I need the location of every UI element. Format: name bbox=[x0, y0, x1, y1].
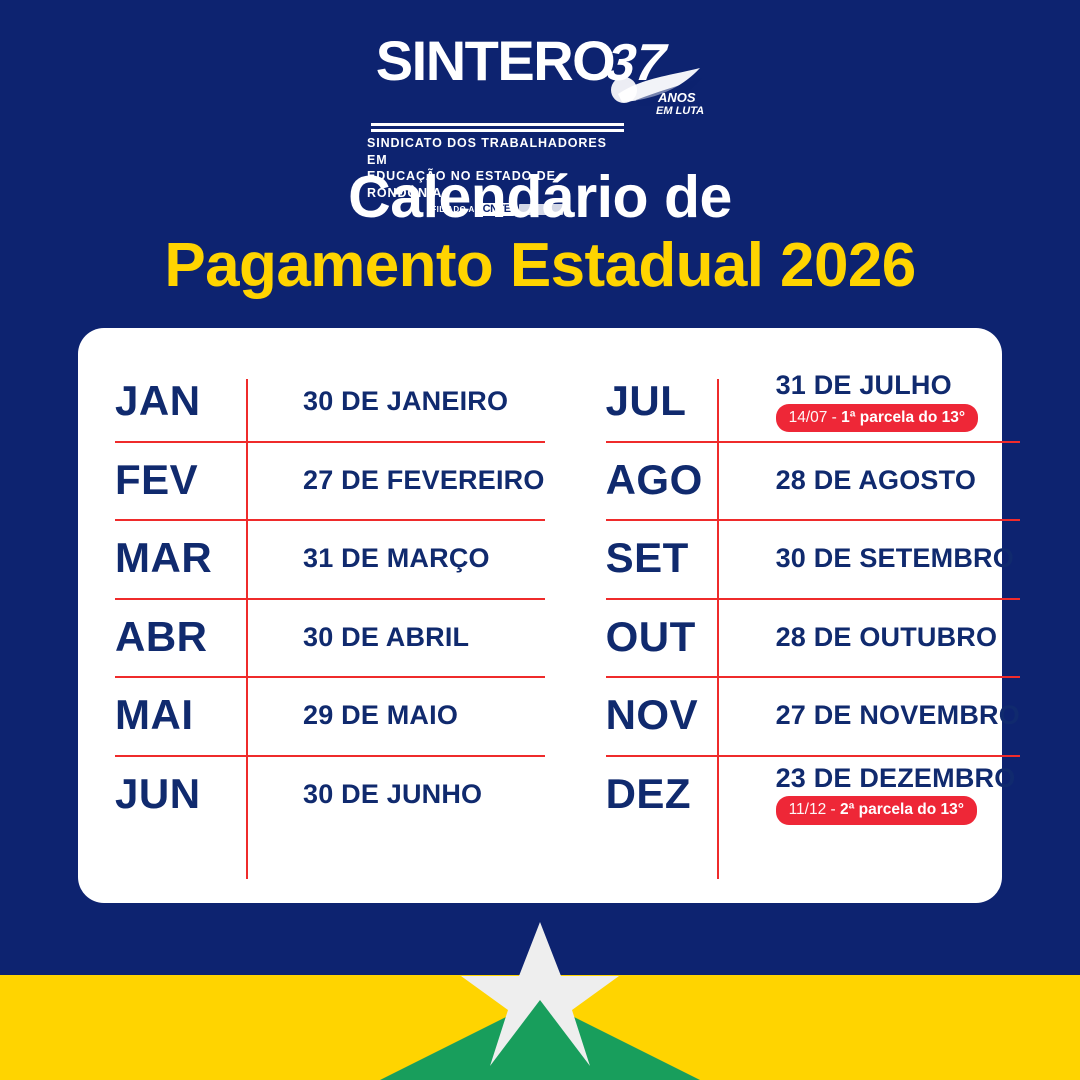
month-abbr-jan: JAN bbox=[115, 380, 283, 422]
month-detail-mar: 31 DE MARÇO bbox=[283, 543, 545, 573]
calendar-card: JAN 30 DE JANEIRO FEV 27 DE FEVEREIRO MA… bbox=[78, 328, 1002, 903]
month-detail-out: 28 DE OUTUBRO bbox=[756, 622, 1020, 652]
month-detail-jul: 31 DE JULHO 14/07 - 1ª parcela do 13° bbox=[756, 370, 1020, 432]
month-date-dez: 23 DE DEZEMBRO bbox=[776, 763, 1020, 793]
month-abbr-abr: ABR bbox=[115, 616, 283, 658]
month-date-ago: 28 DE AGOSTO bbox=[776, 465, 1020, 495]
month-date-abr: 30 DE ABRIL bbox=[303, 622, 545, 652]
month-abbr-dez: DEZ bbox=[606, 773, 756, 815]
calendar-row-mar: MAR 31 DE MARÇO bbox=[115, 519, 545, 598]
logo-primary-row: SINTERO 37 ANOS EM LUTA bbox=[376, 34, 704, 120]
month-abbr-fev: FEV bbox=[115, 459, 283, 501]
month-abbr-set: SET bbox=[606, 537, 756, 579]
flag-footer bbox=[0, 900, 1080, 1080]
month-date-out: 28 DE OUTUBRO bbox=[776, 622, 1020, 652]
title-line-1: Calendário de bbox=[0, 166, 1080, 230]
calendar-row-out: OUT 28 DE OUTUBRO bbox=[606, 598, 1020, 677]
month-date-mai: 29 DE MAIO bbox=[303, 700, 545, 730]
month-abbr-mai: MAI bbox=[115, 694, 283, 736]
calendar-row-dez: DEZ 23 DE DEZEMBRO 11/12 - 2ª parcela do… bbox=[606, 755, 1020, 834]
month-detail-set: 30 DE SETEMBRO bbox=[756, 543, 1020, 573]
month-detail-jun: 30 DE JUNHO bbox=[283, 779, 545, 809]
anniversary-37-icon: 37 ANOS EM LUTA bbox=[608, 34, 704, 120]
logo-rule-top bbox=[371, 123, 624, 126]
calendar-row-jul: JUL 31 DE JULHO 14/07 - 1ª parcela do 13… bbox=[606, 362, 1020, 441]
month-abbr-ago: AGO bbox=[606, 459, 756, 501]
calendar-row-abr: ABR 30 DE ABRIL bbox=[115, 598, 545, 677]
badge-date-dez: 11/12 - bbox=[789, 801, 840, 818]
month-date-fev: 27 DE FEVEREIRO bbox=[303, 465, 545, 495]
month-date-jan: 30 DE JANEIRO bbox=[303, 386, 545, 416]
month-detail-dez: 23 DE DEZEMBRO 11/12 - 2ª parcela do 13° bbox=[756, 763, 1020, 825]
month-abbr-mar: MAR bbox=[115, 537, 283, 579]
logo-rule-bottom bbox=[371, 129, 624, 132]
calendar-row-mai: MAI 29 DE MAIO bbox=[115, 676, 545, 755]
month-detail-mai: 29 DE MAIO bbox=[283, 700, 545, 730]
month-detail-ago: 28 DE AGOSTO bbox=[756, 465, 1020, 495]
month-abbr-nov: NOV bbox=[606, 694, 756, 736]
calendar-row-jan: JAN 30 DE JANEIRO bbox=[115, 362, 545, 441]
calendar-column-second-half: JUL 31 DE JULHO 14/07 - 1ª parcela do 13… bbox=[567, 362, 1044, 903]
installment-badge-dez: 11/12 - 2ª parcela do 13° bbox=[776, 796, 977, 825]
calendar-row-set: SET 30 DE SETEMBRO bbox=[606, 519, 1020, 598]
month-date-jul: 31 DE JULHO bbox=[776, 370, 1020, 400]
calendar-row-jun: JUN 30 DE JUNHO bbox=[115, 755, 545, 834]
logo-rule-lines bbox=[371, 123, 624, 132]
month-date-mar: 31 DE MARÇO bbox=[303, 543, 545, 573]
title-line-2: Pagamento Estadual 2026 bbox=[0, 232, 1080, 300]
month-abbr-out: OUT bbox=[606, 616, 756, 658]
month-detail-abr: 30 DE ABRIL bbox=[283, 622, 545, 652]
badge-date-jul: 14/07 - bbox=[789, 409, 842, 426]
month-detail-nov: 27 DE NOVEMBRO bbox=[756, 700, 1020, 730]
page-title: Calendário de Pagamento Estadual 2026 bbox=[0, 166, 1080, 300]
calendar-row-ago: AGO 28 DE AGOSTO bbox=[606, 441, 1020, 520]
calendar-row-nov: NOV 27 DE NOVEMBRO bbox=[606, 676, 1020, 755]
badge-text-dez: 2ª parcela do 13° bbox=[840, 801, 964, 818]
logo-wordmark: SINTERO bbox=[376, 34, 614, 87]
calendar-row-fev: FEV 27 DE FEVEREIRO bbox=[115, 441, 545, 520]
month-abbr-jul: JUL bbox=[606, 380, 756, 422]
month-date-jun: 30 DE JUNHO bbox=[303, 779, 545, 809]
installment-badge-jul: 14/07 - 1ª parcela do 13° bbox=[776, 404, 979, 433]
month-abbr-jun: JUN bbox=[115, 773, 283, 815]
month-date-set: 30 DE SETEMBRO bbox=[776, 543, 1020, 573]
badge-text-jul: 1ª parcela do 13° bbox=[841, 409, 965, 426]
svg-text:EM LUTA: EM LUTA bbox=[656, 105, 704, 117]
month-detail-jan: 30 DE JANEIRO bbox=[283, 386, 545, 416]
month-detail-fev: 27 DE FEVEREIRO bbox=[283, 465, 545, 495]
calendar-column-first-half: JAN 30 DE JANEIRO FEV 27 DE FEVEREIRO MA… bbox=[78, 362, 567, 903]
rondonia-flag-icon bbox=[0, 900, 1080, 1080]
month-date-nov: 27 DE NOVEMBRO bbox=[776, 700, 1020, 730]
svg-text:ANOS: ANOS bbox=[657, 90, 696, 105]
